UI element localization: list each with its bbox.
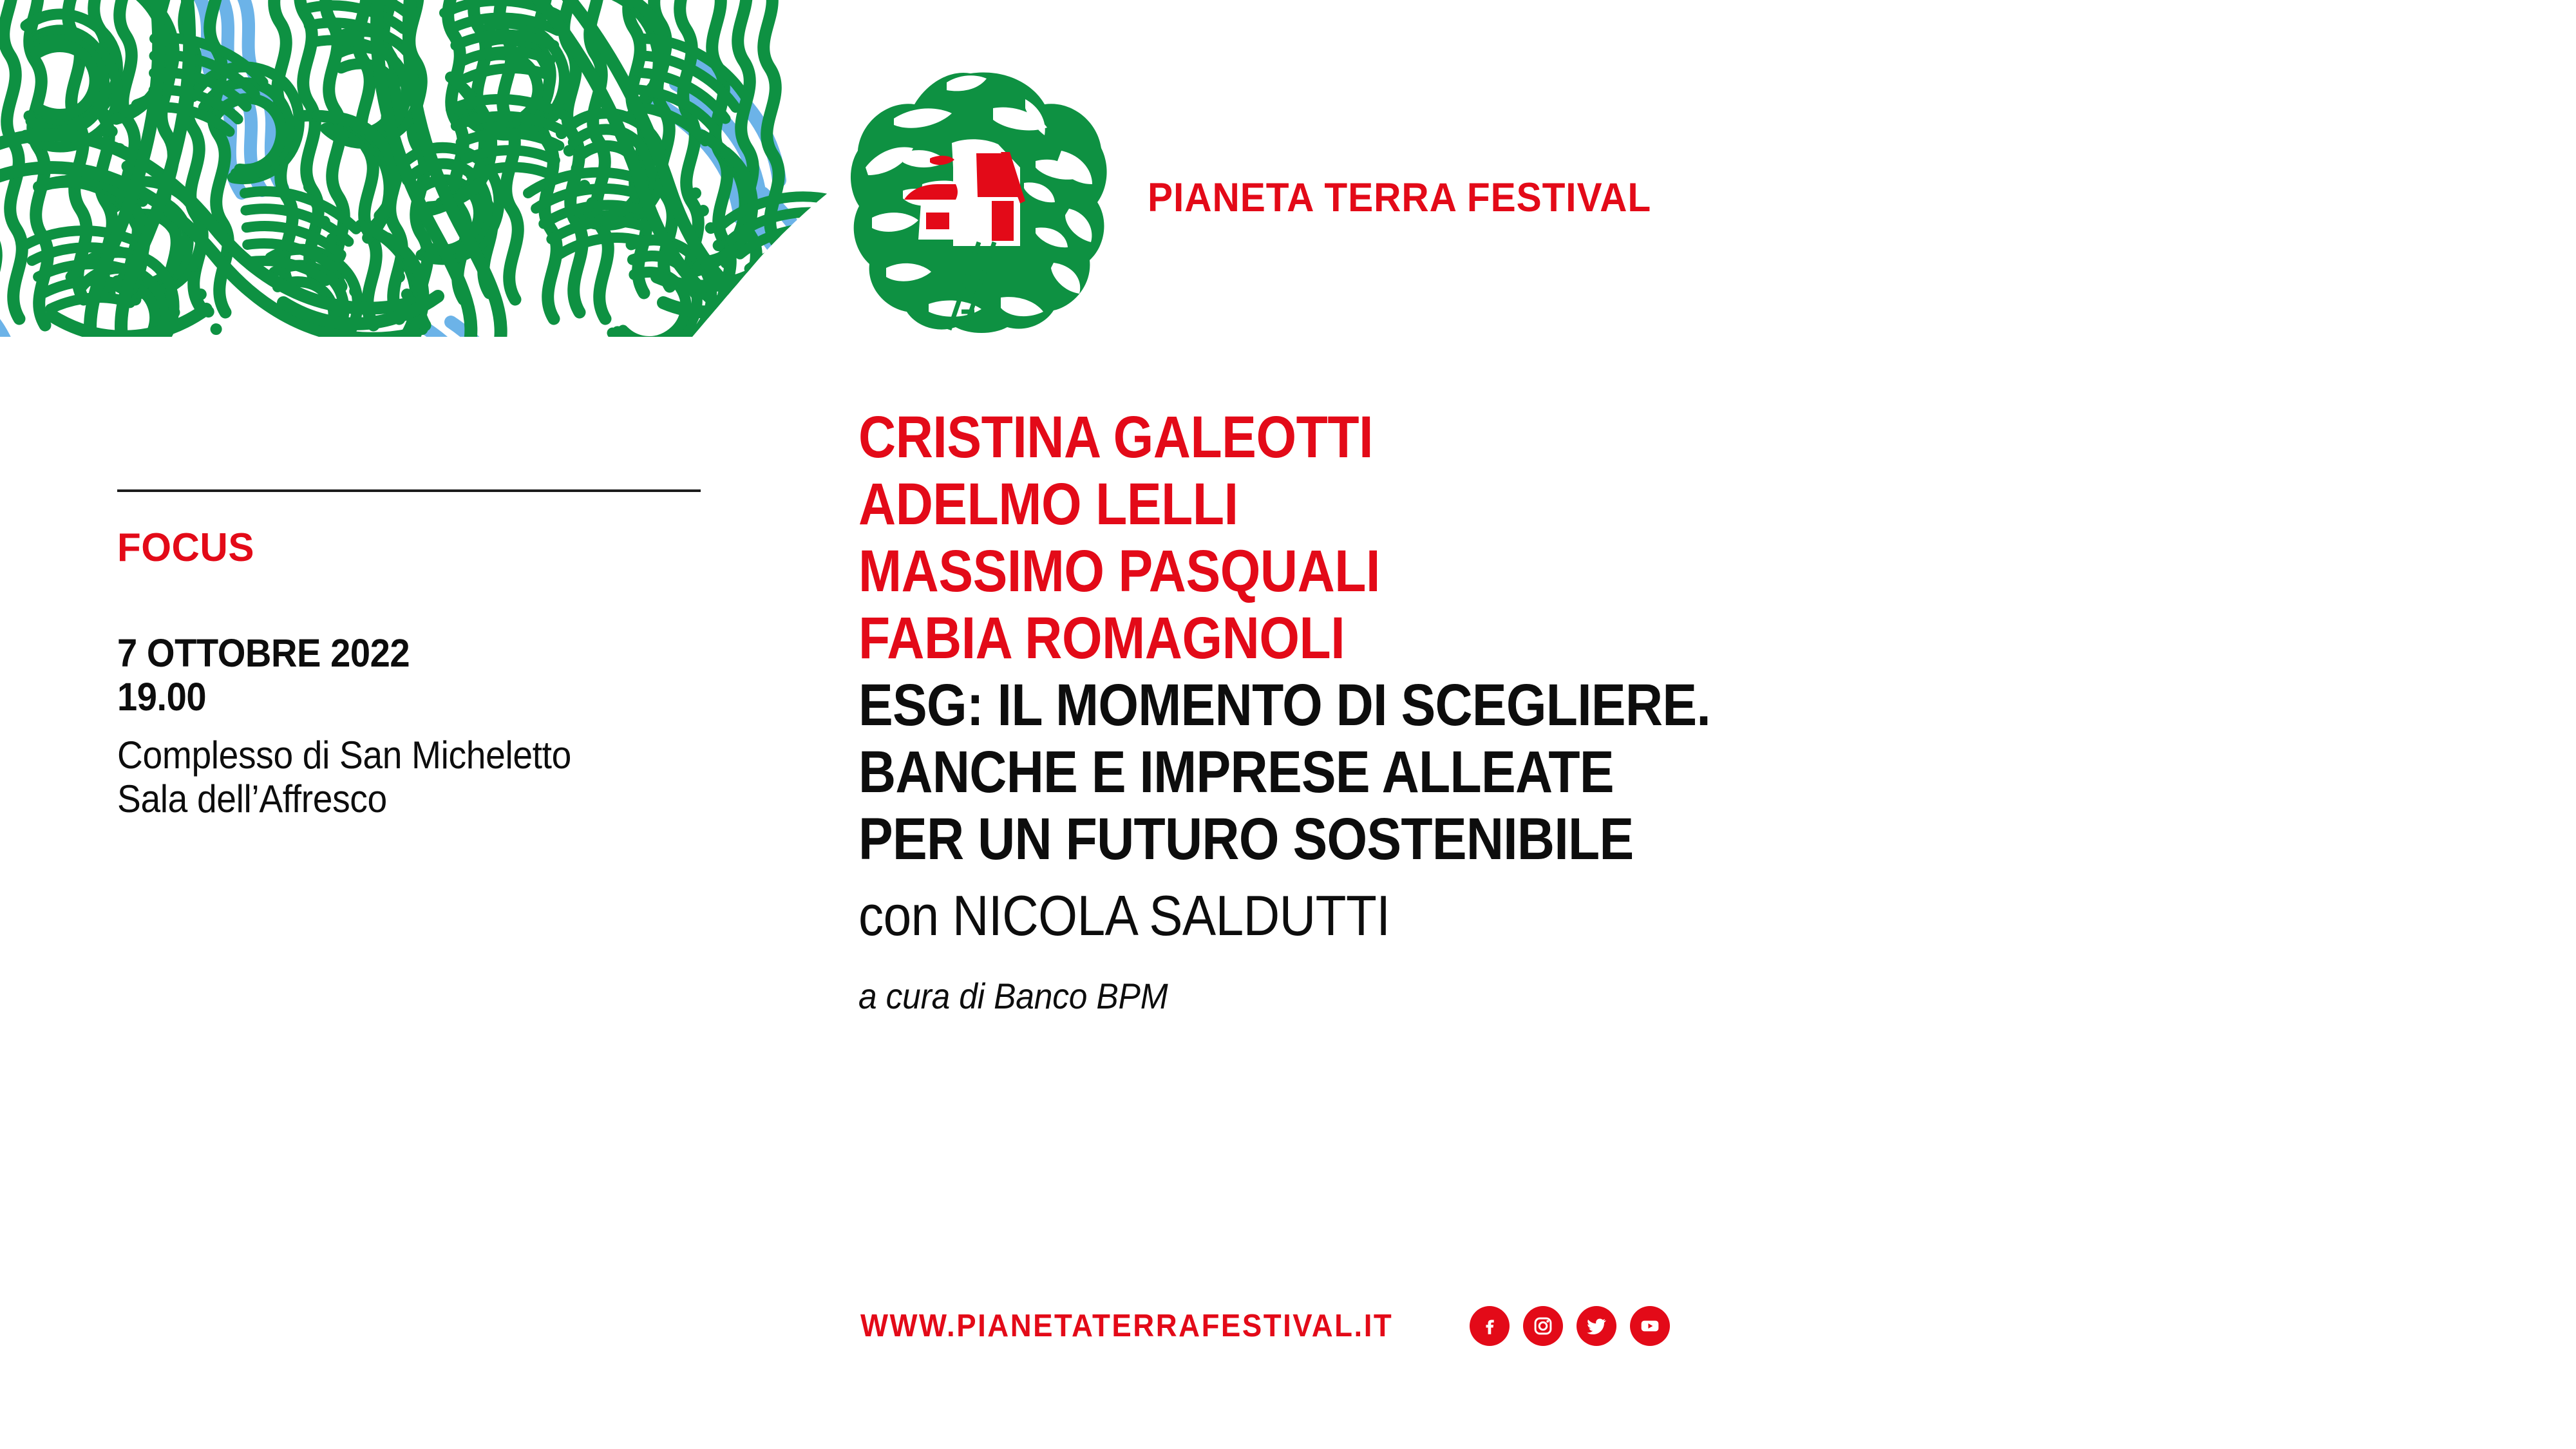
section-label-focus: FOCUS bbox=[117, 528, 698, 568]
website-url[interactable]: WWW.PIANETATERRAFESTIVAL.IT bbox=[860, 1308, 1393, 1344]
event-title-line: BANCHE E IMPRESE ALLEATE bbox=[858, 739, 2268, 806]
youtube-icon[interactable] bbox=[1630, 1306, 1670, 1346]
decorative-pattern bbox=[0, 0, 828, 341]
venue-room: Sala dell’Affresco bbox=[117, 777, 668, 821]
speaker-name: FABIA ROMAGNOLI bbox=[858, 605, 2268, 672]
venue-name: Complesso di San Micheletto bbox=[117, 734, 668, 777]
facebook-icon[interactable] bbox=[1470, 1306, 1510, 1346]
event-title-line: ESG: IL MOMENTO DI SCEGLIERE. bbox=[858, 672, 2268, 739]
instagram-icon[interactable] bbox=[1523, 1306, 1563, 1346]
event-details-panel: FOCUS 7 OTTOBRE 2022 19.00 Complesso di … bbox=[117, 489, 716, 821]
divider-rule bbox=[117, 489, 701, 492]
festival-logo bbox=[832, 71, 1109, 335]
speaker-name: CRISTINA GALEOTTI bbox=[858, 404, 2268, 471]
curator-line: a cura di Banco BPM bbox=[858, 976, 2340, 1016]
speaker-name: MASSIMO PASQUALI bbox=[858, 538, 2268, 605]
festival-wordmark: PIANETA TERRA FESTIVAL bbox=[1148, 175, 1651, 221]
event-title-line: PER UN FUTURO SOSTENIBILE bbox=[858, 806, 2268, 873]
social-links bbox=[1470, 1306, 1670, 1346]
event-headline-panel: CRISTINA GALEOTTI ADELMO LELLI MASSIMO P… bbox=[858, 404, 2468, 1016]
event-date: 7 OTTOBRE 2022 bbox=[117, 631, 668, 675]
twitter-icon[interactable] bbox=[1577, 1306, 1616, 1346]
event-time: 19.00 bbox=[117, 675, 668, 719]
footer-bar: WWW.PIANETATERRAFESTIVAL.IT bbox=[860, 1306, 1670, 1346]
moderator-line: con NICOLA SALDUTTI bbox=[858, 885, 2291, 947]
speaker-name: ADELMO LELLI bbox=[858, 471, 2268, 538]
